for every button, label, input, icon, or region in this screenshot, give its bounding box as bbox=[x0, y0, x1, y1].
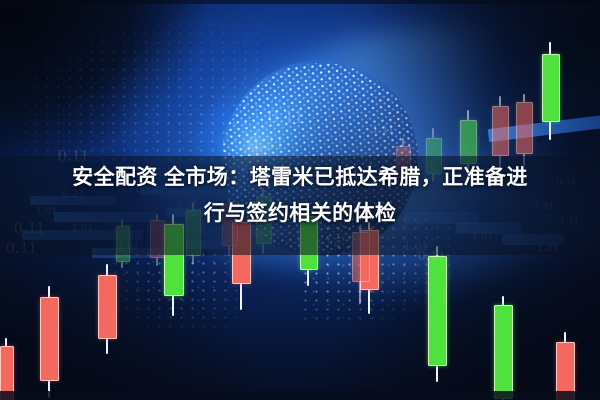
candlestick-bullish bbox=[542, 42, 558, 140]
news-banner-image: 0.110.110.211.111.010.110.111.011.010.21… bbox=[0, 0, 600, 400]
candle-body bbox=[98, 275, 117, 339]
headline-text: 安全配资 全市场：塔雷米已抵达希腊，正准备进 行与签约相关的体检 bbox=[0, 160, 600, 232]
candle-body bbox=[494, 305, 513, 399]
candlestick-bullish bbox=[428, 246, 445, 382]
bottom-edge-strip bbox=[0, 391, 600, 400]
candlestick-bearish bbox=[40, 286, 57, 398]
headline-line-2: 行与签约相关的体检 bbox=[16, 196, 584, 232]
candle-body bbox=[428, 256, 447, 366]
candlestick-bullish bbox=[494, 296, 511, 400]
candle-body bbox=[542, 54, 560, 122]
candle-body bbox=[40, 297, 59, 381]
candle-body bbox=[492, 106, 509, 156]
headline-line-1: 安全配资 全市场：塔雷米已抵达希腊，正准备进 bbox=[16, 160, 584, 196]
candlestick-bearish bbox=[98, 264, 115, 354]
candlestick-bearish bbox=[556, 332, 573, 400]
candle-body bbox=[516, 102, 533, 154]
top-edge-strip bbox=[0, 0, 600, 4]
